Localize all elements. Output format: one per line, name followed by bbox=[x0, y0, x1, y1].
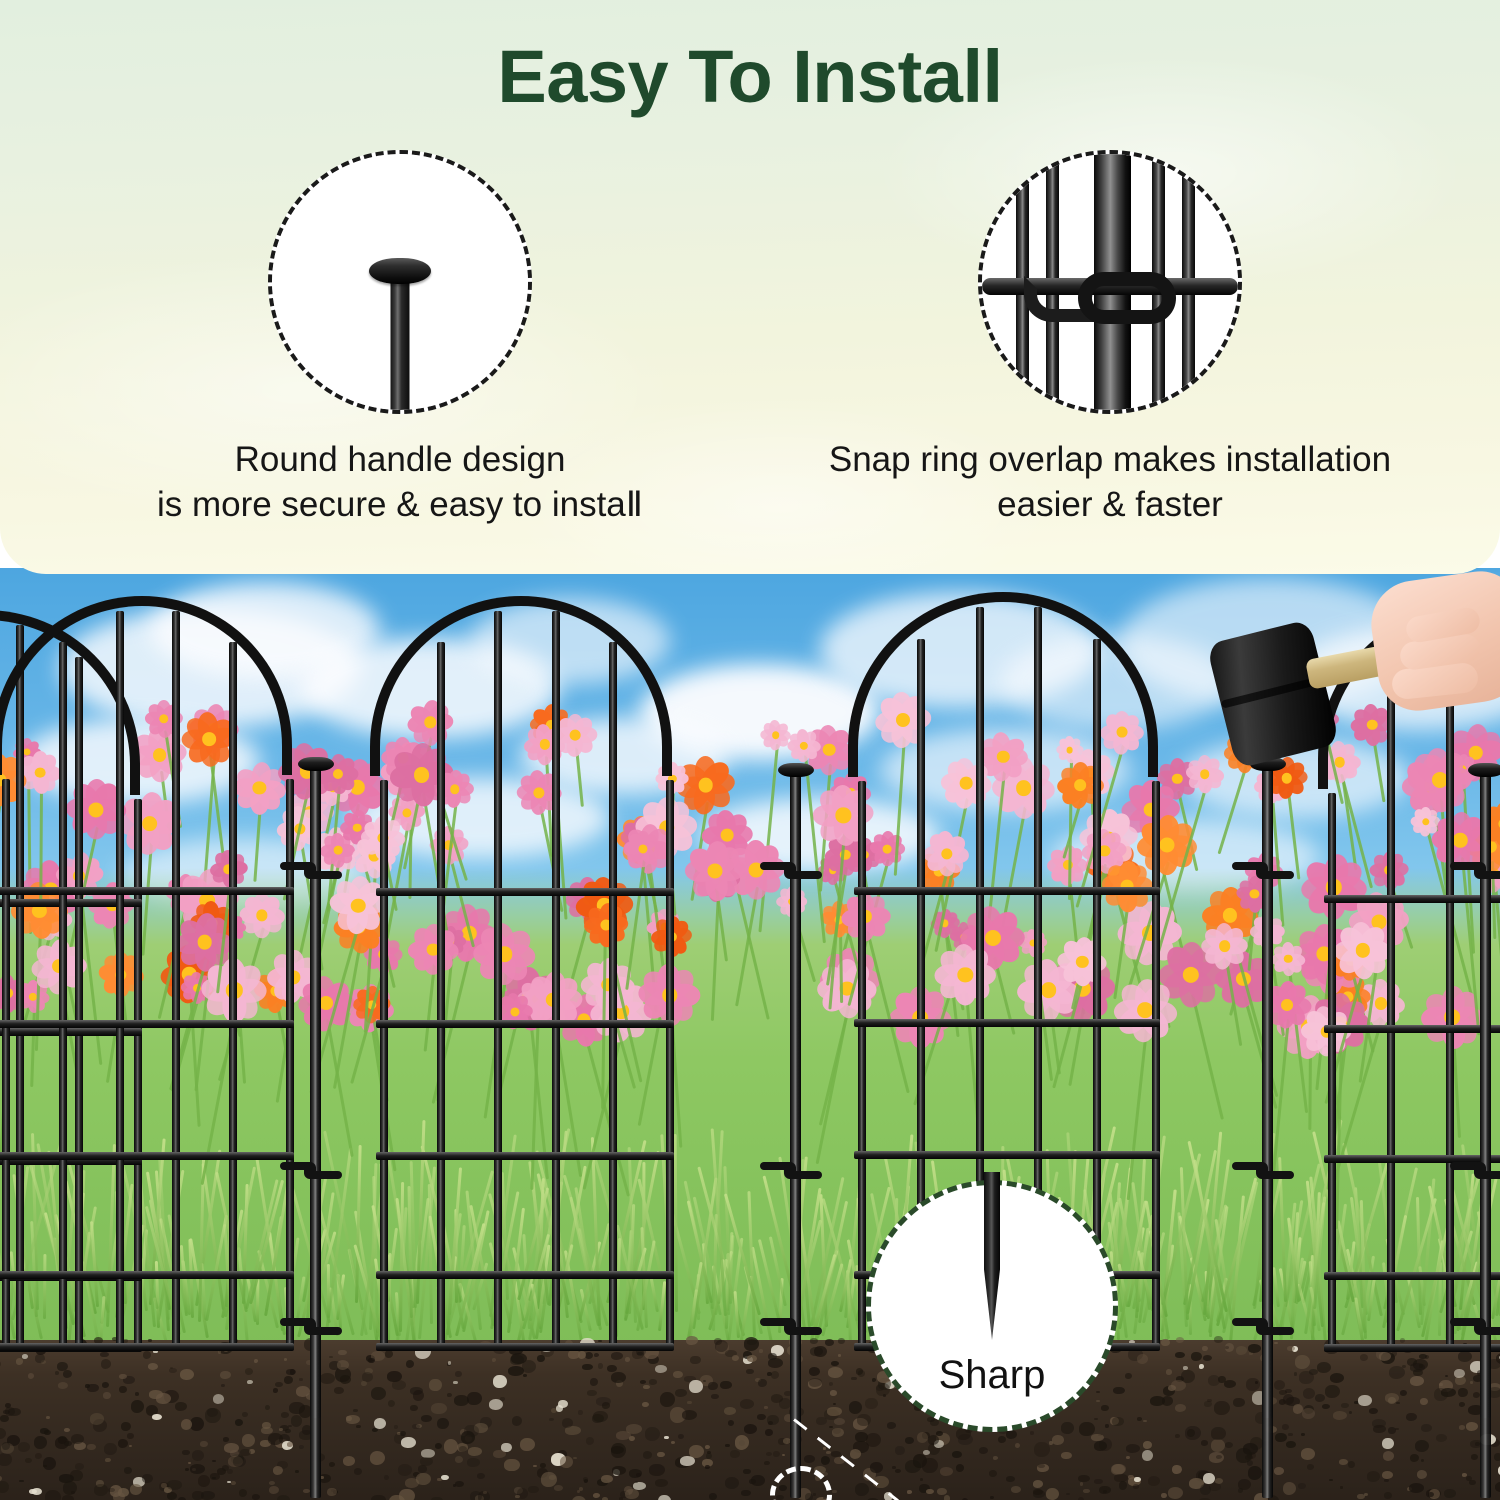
horizontal-rail bbox=[0, 1020, 294, 1028]
feature-card: Easy To Install Round handle design is m… bbox=[0, 0, 1500, 574]
feature-snap-ring: Snap ring overlap makes installation eas… bbox=[760, 150, 1460, 528]
snap-ring-detail-icon bbox=[978, 150, 1242, 414]
snap-ring-connector bbox=[760, 1316, 822, 1335]
horizontal-rail bbox=[1324, 1025, 1500, 1033]
vertical-bar bbox=[116, 611, 124, 1350]
fence-panel bbox=[370, 596, 692, 1350]
caption-line-1: Snap ring overlap makes installation bbox=[760, 438, 1460, 483]
vertical-bar bbox=[494, 611, 502, 1350]
detail-image bbox=[982, 154, 1238, 410]
snap-ring-loop bbox=[1078, 272, 1176, 324]
horizontal-rail bbox=[0, 887, 294, 895]
rubber-mallet-in-hand-icon bbox=[1178, 578, 1500, 768]
horizontal-rail bbox=[0, 1343, 294, 1351]
vertical-bar bbox=[666, 780, 674, 1350]
panel-arch bbox=[0, 596, 292, 775]
horizontal-rail bbox=[1324, 1272, 1500, 1280]
connector-dashed-ring bbox=[770, 1466, 832, 1500]
round-handle-cap bbox=[369, 258, 431, 284]
horizontal-rail bbox=[854, 1019, 1160, 1027]
panel-arch bbox=[848, 592, 1158, 777]
snap-ring-connector bbox=[280, 1316, 342, 1335]
page-title: Easy To Install bbox=[0, 34, 1500, 119]
detail-image bbox=[272, 154, 528, 410]
snap-ring-connector bbox=[1232, 1316, 1294, 1335]
feature-round-handle: Round handle design is more secure & eas… bbox=[60, 150, 740, 528]
horizontal-rail bbox=[376, 1020, 674, 1028]
snap-ring-connector bbox=[280, 1160, 342, 1179]
snap-ring-arm2 bbox=[1260, 871, 1294, 879]
snap-ring-arm2 bbox=[1260, 1171, 1294, 1179]
vertical-bar bbox=[172, 611, 180, 1350]
snap-ring-connector bbox=[1450, 1316, 1500, 1335]
callout-label: Sharp bbox=[866, 1353, 1118, 1398]
vertical-bar bbox=[552, 611, 560, 1350]
snap-ring-connector bbox=[760, 860, 822, 879]
panel-arch bbox=[370, 596, 672, 776]
caption-line-1: Round handle design bbox=[60, 438, 740, 483]
snap-ring-arm2 bbox=[1260, 1327, 1294, 1335]
round-handle-detail-icon bbox=[268, 150, 532, 414]
sharp-tip-callout: Sharp bbox=[866, 1180, 1118, 1432]
horizontal-rail bbox=[854, 887, 1160, 895]
feature-caption-left: Round handle design is more secure & eas… bbox=[60, 438, 740, 528]
vertical-bar bbox=[1152, 781, 1160, 1350]
feature-caption-right: Snap ring overlap makes installation eas… bbox=[760, 438, 1460, 528]
snap-ring-connector bbox=[280, 860, 342, 879]
horizontal-rail bbox=[376, 888, 674, 896]
caption-line-2: is more secure & easy to instaⅡ bbox=[60, 483, 740, 528]
snap-ring-arm2 bbox=[1478, 871, 1500, 879]
horizontal-rail bbox=[1324, 895, 1500, 903]
stake-post-underground bbox=[1480, 1380, 1491, 1498]
caption-line-2: easier & faster bbox=[760, 483, 1460, 528]
vertical-bar bbox=[1328, 793, 1336, 1350]
stake-post-underground bbox=[1262, 1380, 1273, 1498]
vertical-bar bbox=[2, 779, 10, 1350]
horizontal-rail bbox=[1324, 1344, 1500, 1352]
vertical-bar bbox=[229, 642, 237, 1350]
horizontal-rail bbox=[376, 1343, 674, 1351]
snap-ring-connector bbox=[1232, 1160, 1294, 1179]
horizontal-rail bbox=[376, 1271, 674, 1279]
snap-ring-arm2 bbox=[308, 1327, 342, 1335]
vertical-bar bbox=[380, 780, 388, 1350]
snap-ring-arm2 bbox=[308, 871, 342, 879]
vertical-bar bbox=[858, 781, 866, 1350]
stake-post-shaft bbox=[391, 272, 410, 410]
vertical-bar bbox=[609, 642, 617, 1350]
horizontal-rail bbox=[0, 1271, 294, 1279]
stake-post-underground bbox=[310, 1380, 321, 1498]
product-feature-graphic: Sharp Easy To Install Round handle desig… bbox=[0, 0, 1500, 1500]
horizontal-rail bbox=[376, 1152, 674, 1160]
snap-ring-arm2 bbox=[1478, 1327, 1500, 1335]
round-handle-cap bbox=[778, 763, 814, 777]
snap-ring-arm2 bbox=[788, 1327, 822, 1335]
horizontal-rail bbox=[854, 1151, 1160, 1159]
fence-panel bbox=[0, 596, 312, 1350]
vertical-bar bbox=[59, 642, 67, 1350]
snap-ring-arm2 bbox=[1478, 1171, 1500, 1179]
vertical-bar bbox=[437, 642, 445, 1350]
snap-ring-connector bbox=[1232, 860, 1294, 879]
snap-ring-arm2 bbox=[788, 871, 822, 879]
callout-connector bbox=[754, 1408, 944, 1500]
horizontal-rail bbox=[0, 1152, 294, 1160]
snap-ring-connector bbox=[1450, 1160, 1500, 1179]
snap-ring-connector bbox=[760, 1160, 822, 1179]
snap-ring-connector bbox=[1450, 860, 1500, 879]
round-handle-cap bbox=[298, 757, 334, 771]
snap-ring-arm2 bbox=[308, 1171, 342, 1179]
snap-ring-arm2 bbox=[788, 1171, 822, 1179]
installation-photo: Sharp bbox=[0, 568, 1500, 1500]
